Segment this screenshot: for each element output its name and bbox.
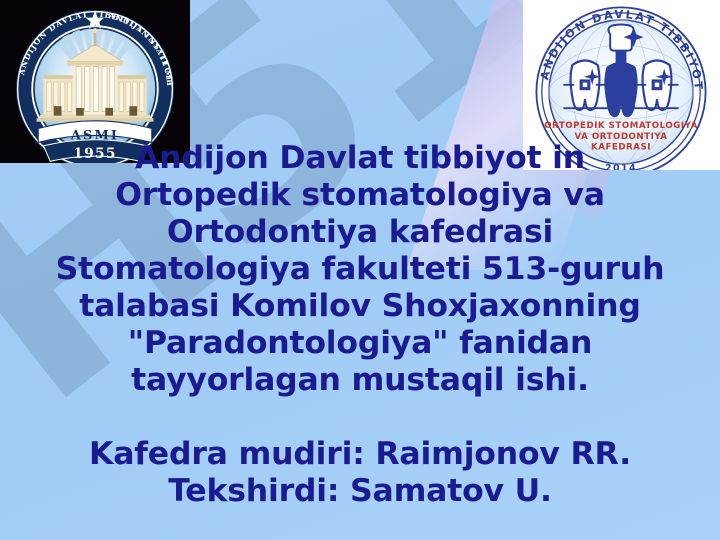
asmi-logo-box: ANDIJON DAVLAT TIBBIYOT INSTITUTI ANDIJA…	[0, 0, 190, 163]
slide-line-5: talabasi Komilov Shoxjaxonning	[0, 288, 720, 325]
slide-line-6: "Paradontologiya" fanidan	[0, 325, 720, 362]
presentation-slide: Н513	[0, 0, 720, 540]
slide-line-2: Ortopedik stomatologiya va	[0, 177, 720, 214]
asmi-seal-icon: ANDIJON DAVLAT TIBBIYOT INSTITUTI ANDIJA…	[9, 3, 181, 163]
slide-line-spacer	[0, 399, 720, 436]
slide-line-kafedra-mudiri: Kafedra mudiri: Raimjonov RR.	[0, 436, 720, 473]
slide-text-block: Andijon Davlat tibbiyot in Ortopedik sto…	[0, 140, 720, 510]
slide-line-3: Ortodontiya kafedrasi	[0, 214, 720, 251]
slide-line-4: Stomatologiya fakulteti 513-guruh	[0, 251, 720, 288]
kaf-inner-line-1: ORTOPEDIK STOMATOLOGIYA	[544, 121, 698, 131]
slide-line-1: Andijon Davlat tibbiyot in	[0, 140, 720, 177]
slide-line-7: tayyorlagan mustaqil ishi.	[0, 362, 720, 399]
slide-line-tekshirdi: Tekshirdi: Samatov U.	[0, 473, 720, 510]
